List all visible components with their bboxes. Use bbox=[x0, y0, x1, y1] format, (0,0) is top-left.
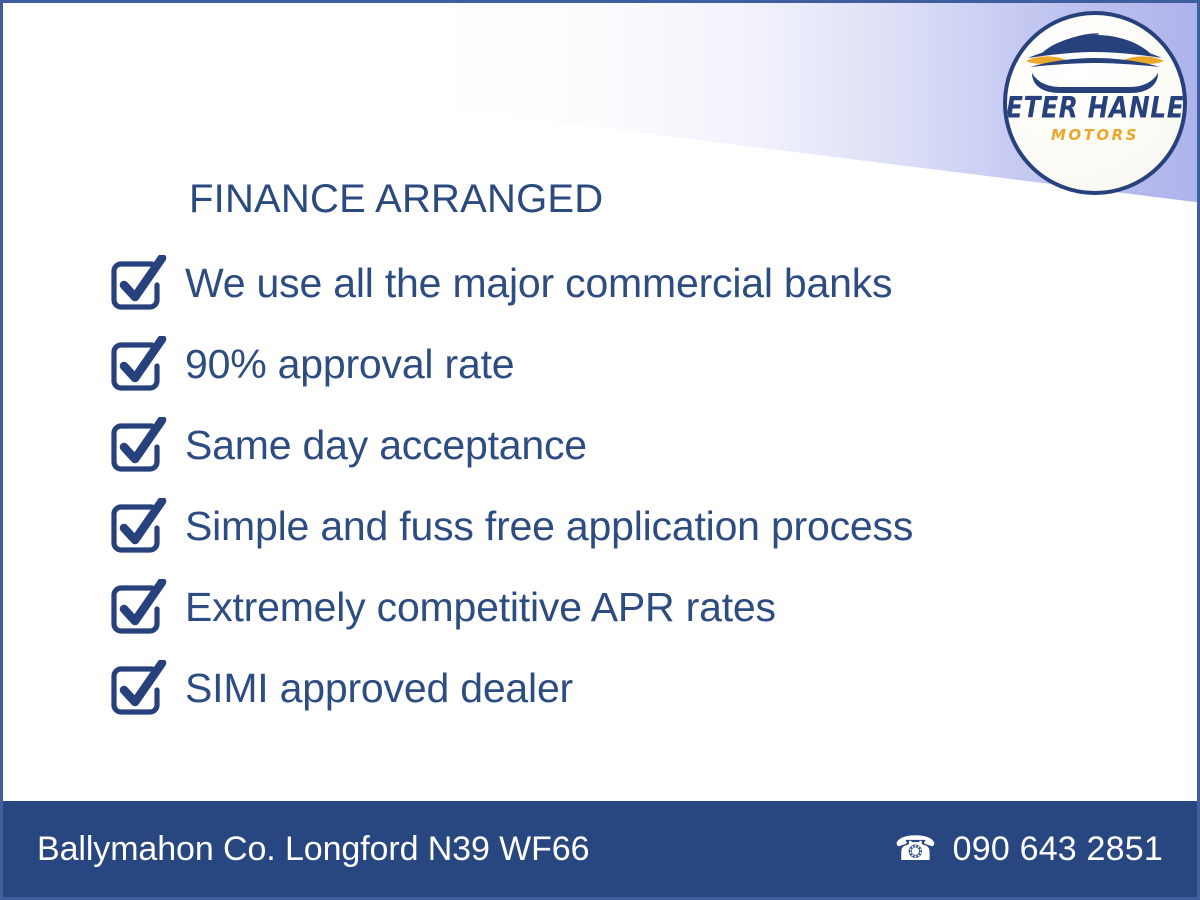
list-item-label: 90% approval rate bbox=[185, 344, 514, 385]
checkbox-checked-icon bbox=[109, 498, 171, 556]
address-text: Ballymahon Co. Longford N39 WF66 bbox=[37, 830, 589, 869]
phone-group[interactable]: ☎ 090 643 2851 bbox=[894, 830, 1163, 869]
telephone-icon: ☎ bbox=[894, 832, 936, 866]
brand-name: PETER HANLEY bbox=[1003, 93, 1187, 123]
checkbox-checked-icon bbox=[109, 579, 171, 637]
list-item-label: We use all the major commercial banks bbox=[185, 263, 892, 304]
phone-number: 090 643 2851 bbox=[953, 830, 1163, 869]
checkbox-checked-icon bbox=[109, 660, 171, 718]
checkbox-checked-icon bbox=[109, 336, 171, 394]
list-item: We use all the major commercial banks bbox=[109, 243, 1109, 324]
brand-logo-badge: PETER HANLEY MOTORS bbox=[1003, 11, 1187, 195]
list-item: Extremely competitive APR rates bbox=[109, 567, 1109, 648]
brand-subtitle: MOTORS bbox=[1051, 128, 1139, 143]
checkbox-checked-icon bbox=[109, 255, 171, 313]
contact-bar: Ballymahon Co. Longford N39 WF66 ☎ 090 6… bbox=[3, 801, 1197, 897]
checkbox-checked-icon bbox=[109, 417, 171, 475]
list-item: 90% approval rate bbox=[109, 324, 1109, 405]
list-item: Simple and fuss free application process bbox=[109, 486, 1109, 567]
list-item-label: SIMI approved dealer bbox=[185, 668, 573, 709]
car-front-icon bbox=[1020, 31, 1170, 97]
list-item-label: Same day acceptance bbox=[185, 425, 587, 466]
list-item: Same day acceptance bbox=[109, 405, 1109, 486]
list-item-label: Simple and fuss free application process bbox=[185, 506, 913, 547]
list-item-label: Extremely competitive APR rates bbox=[185, 587, 776, 628]
list-item: SIMI approved dealer bbox=[109, 648, 1109, 729]
finance-arranged-poster: PETER HANLEY MOTORS FINANCE ARRANGED We … bbox=[0, 0, 1200, 900]
benefits-checklist: We use all the major commercial banks 90… bbox=[109, 243, 1109, 729]
page-title: FINANCE ARRANGED bbox=[189, 177, 603, 222]
